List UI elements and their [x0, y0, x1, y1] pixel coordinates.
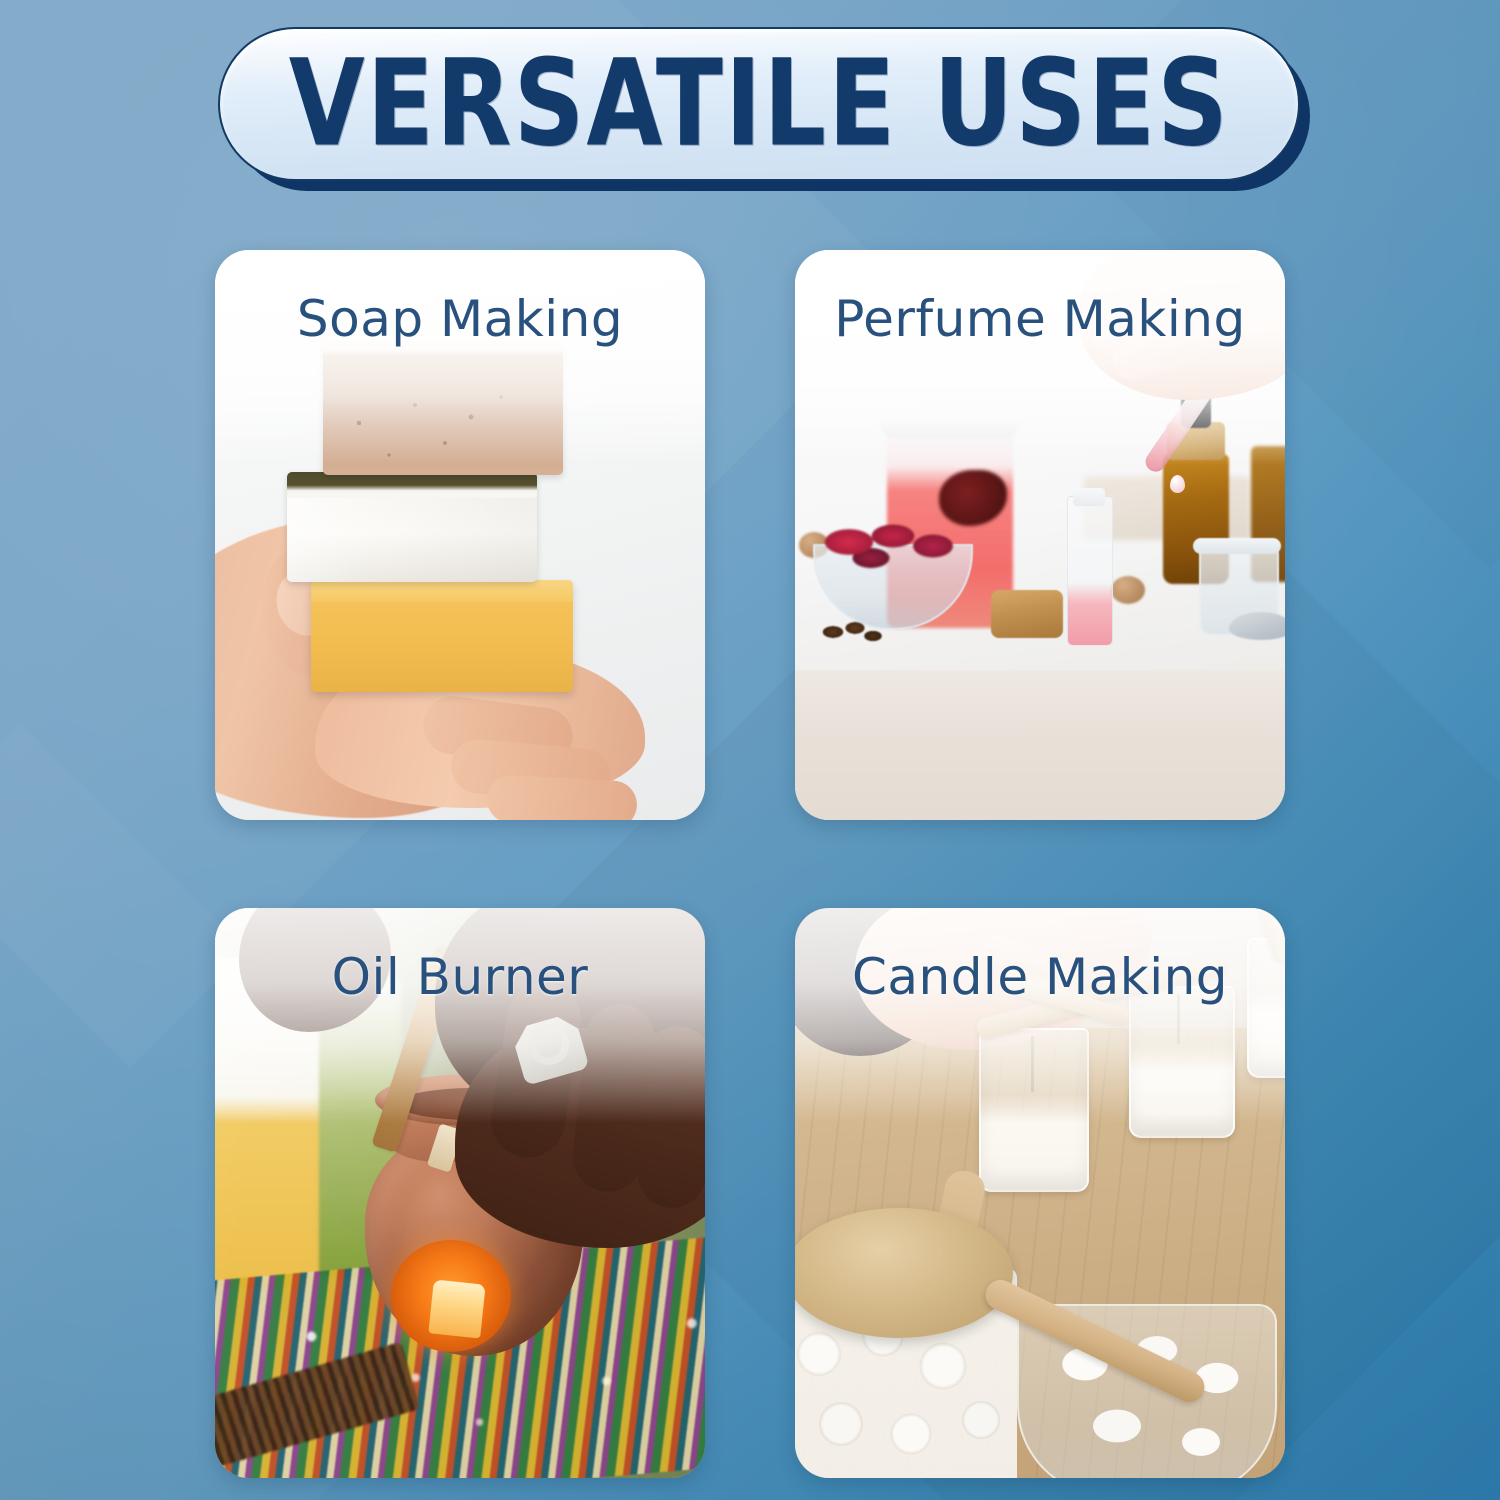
candle-jar: [1129, 986, 1235, 1138]
use-card-label-perfume-making: Perfume Making: [795, 290, 1285, 348]
finger-shape: [636, 1024, 705, 1209]
finger-shape: [486, 774, 638, 820]
uses-grid: Soap Making: [215, 250, 1285, 1478]
oil-droplet: [1170, 475, 1185, 493]
countertop: [795, 670, 1285, 820]
perfume-vial-neck: [1073, 488, 1105, 506]
candle-jar: [979, 1028, 1089, 1192]
rose-petals: [821, 520, 961, 574]
nutmeg: [1111, 576, 1145, 604]
infographic-page: VERSATILE USES: [0, 0, 1500, 1500]
use-card-candle-making[interactable]: Candle Making: [795, 908, 1285, 1478]
candle-flame: [428, 1279, 485, 1338]
use-card-label-soap-making: Soap Making: [215, 290, 705, 348]
use-card-soap-making[interactable]: Soap Making: [215, 250, 705, 820]
title-banner-pill: VERSATILE USES: [218, 27, 1300, 181]
page-title: VERSATILE USES: [288, 44, 1229, 164]
star-anise: [817, 616, 887, 650]
cork-stopper: [991, 590, 1063, 638]
soap-bar-white-sheen: [287, 498, 537, 582]
use-card-label-oil-burner: Oil Burner: [215, 948, 705, 1006]
wax-flakes: [1031, 1320, 1259, 1478]
candle-wick: [1031, 1036, 1034, 1092]
soap-bar-yellow-edge: [311, 580, 573, 602]
use-card-oil-burner[interactable]: Oil Burner: [215, 908, 705, 1478]
title-banner: VERSATILE USES: [218, 27, 1296, 177]
use-card-perfume-making[interactable]: Perfume Making: [795, 250, 1285, 820]
perfume-vial: [1067, 496, 1113, 646]
small-glass-jar-rim: [1193, 538, 1281, 554]
metal-spoon: [1229, 612, 1285, 640]
bamboo-jar-lid: [795, 1208, 1013, 1338]
use-card-label-candle-making: Candle Making: [795, 948, 1285, 1006]
pink-infusion-jar-rim: [881, 412, 1019, 438]
